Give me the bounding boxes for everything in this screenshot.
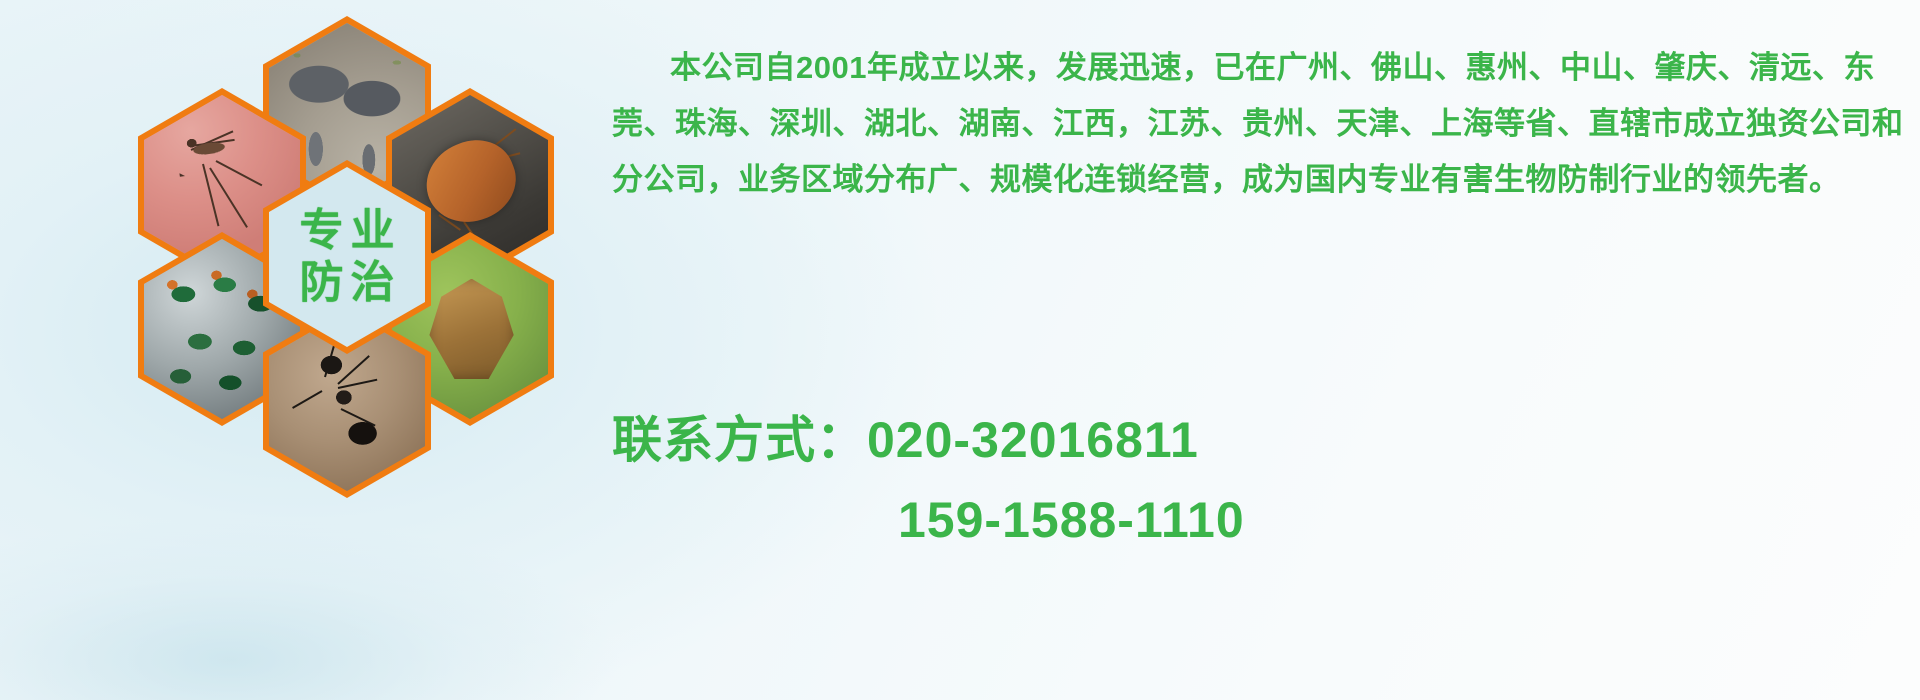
company-description-paragraph: 本公司自2001年成立以来，发展迅速，已在广州、佛山、惠州、中山、肇庆、清远、东… <box>612 40 1912 208</box>
contact-line-primary: 联系方式：020-32016811 <box>612 400 1912 480</box>
logo-text: 专业 防治 <box>269 167 425 347</box>
logo-text-line2: 防治 <box>293 260 402 306</box>
contact-block: 联系方式：020-32016811 159-1588-1110 <box>612 400 1912 560</box>
logo-text-line1: 专业 <box>293 208 402 254</box>
contact-line-secondary: 159-1588-1110 <box>612 480 1912 560</box>
hex-logo-center-inner: 专业 防治 <box>269 167 425 347</box>
company-description: 本公司自2001年成立以来，发展迅速，已在广州、佛山、惠州、中山、肇庆、清远、东… <box>612 40 1912 208</box>
hexagon-photo-cluster: 专业 防治 <box>80 10 590 570</box>
